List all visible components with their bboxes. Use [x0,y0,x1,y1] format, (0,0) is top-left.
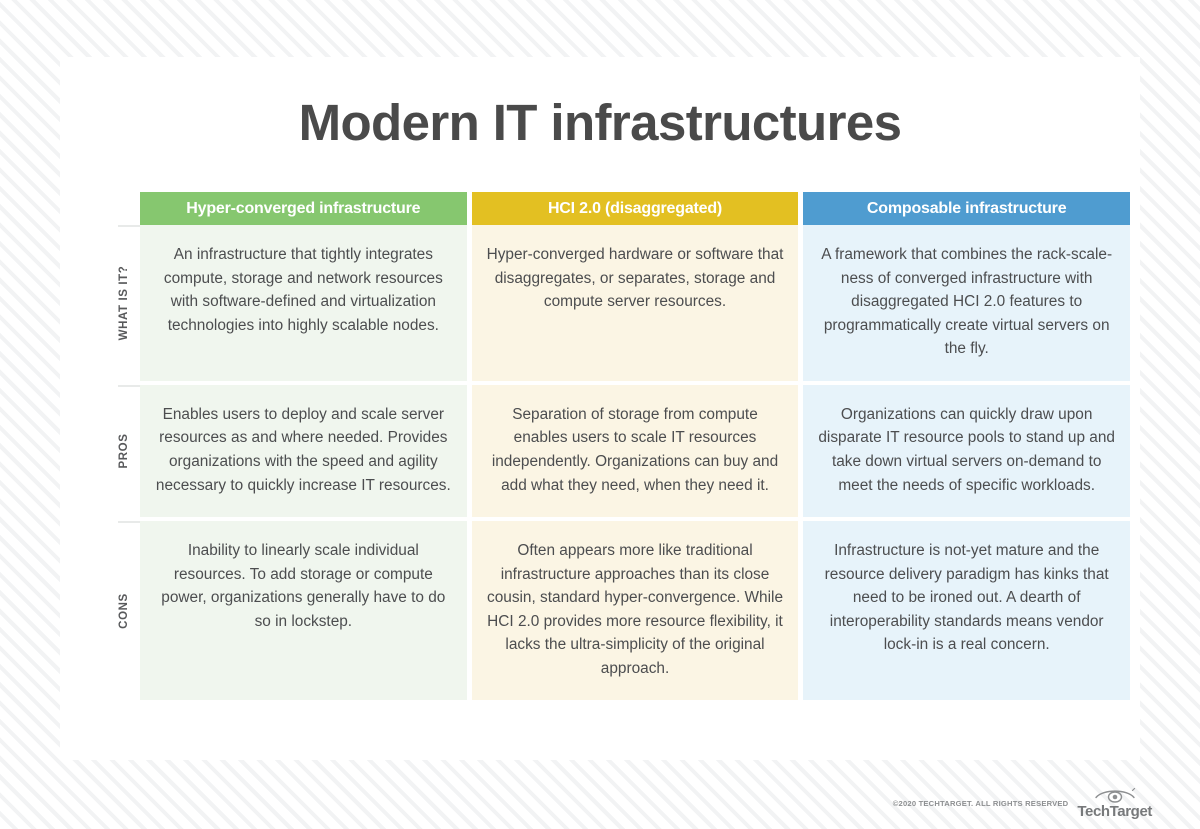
row-divider-line [118,225,140,227]
comparison-table: Hyper-converged infrastructure HCI 2.0 (… [108,192,1130,700]
cell-cons-composable: Infrastructure is not-yet mature and the… [803,521,1130,700]
content-card: Modern IT infrastructures Hyper-converge… [60,57,1140,760]
row-label-what-is-it: WHAT IS IT? [108,225,140,381]
row-label-text: WHAT IS IT? [118,266,130,341]
techtarget-logo: TechTarget [1077,788,1152,819]
cell-cons-hci20: Often appears more like traditional infr… [472,521,799,700]
cell-what-is-it-composable: A framework that combines the rack-scale… [803,225,1130,381]
cell-what-is-it-hci: An infrastructure that tightly integrate… [140,225,467,381]
eye-icon [1094,788,1136,803]
row-divider-line [118,385,140,387]
table-header-row: Hyper-converged infrastructure HCI 2.0 (… [108,192,1130,225]
table-row: PROS Enables users to deploy and scale s… [108,385,1130,517]
table-row: CONS Inability to linearly scale individ… [108,521,1130,700]
row-label-text: PROS [118,433,130,468]
row-label-text: CONS [118,593,130,629]
column-header-hci20-label: HCI 2.0 (disaggregated) [548,200,722,217]
column-header-hci: Hyper-converged infrastructure [140,192,467,225]
copyright-text: ©2020 TECHTARGET. ALL RIGHTS RESERVED [893,799,1069,808]
cell-what-is-it-hci20: Hyper-converged hardware or software tha… [472,225,799,381]
column-header-composable-label: Composable infrastructure [867,200,1067,217]
row-label-cons: CONS [108,521,140,700]
row-divider-line [118,521,140,523]
header-corner-spacer [108,192,140,225]
page-title: Modern IT infrastructures [60,93,1140,152]
cell-pros-hci: Enables users to deploy and scale server… [140,385,467,517]
column-header-hci20: HCI 2.0 (disaggregated) [472,192,799,225]
column-header-composable: Composable infrastructure [803,192,1130,225]
techtarget-wordmark: TechTarget [1077,804,1152,819]
cell-pros-hci20: Separation of storage from compute enabl… [472,385,799,517]
footer: ©2020 TECHTARGET. ALL RIGHTS RESERVED Te… [893,788,1152,819]
column-header-hci-label: Hyper-converged infrastructure [186,200,420,217]
row-label-pros: PROS [108,385,140,517]
table-row: WHAT IS IT? An infrastructure that tight… [108,225,1130,381]
cell-pros-composable: Organizations can quickly draw upon disp… [803,385,1130,517]
cell-cons-hci: Inability to linearly scale individual r… [140,521,467,700]
